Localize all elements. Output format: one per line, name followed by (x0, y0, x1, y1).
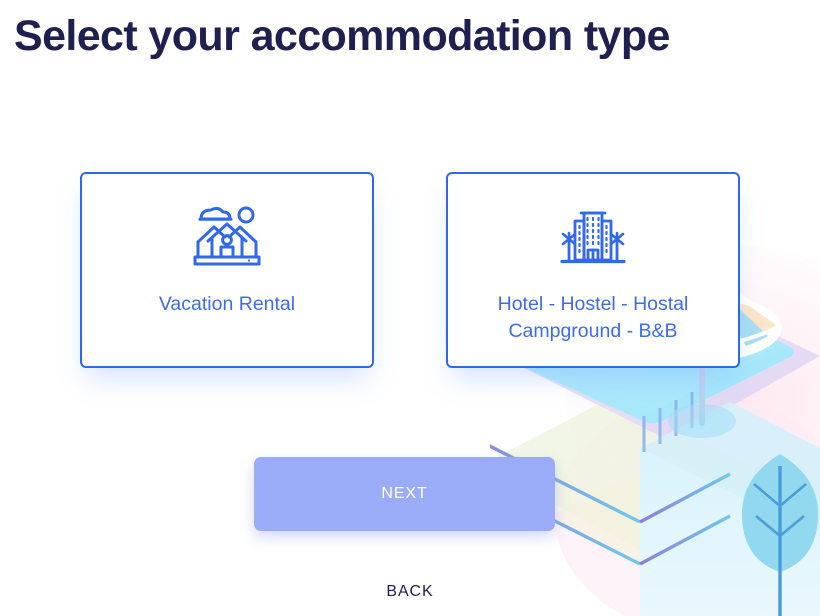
villa-house-icon (188, 201, 266, 271)
hotel-building-icon (554, 201, 632, 271)
back-button[interactable]: BACK (0, 583, 820, 601)
page-title: Select your accommodation type (14, 10, 670, 62)
option-card-label: Vacation Rental (159, 291, 295, 318)
option-card-label: Hotel - Hostel - Hostal Campground - B&B (498, 291, 689, 345)
next-button[interactable]: NEXT (254, 457, 555, 531)
accommodation-type-options: Vacation Rental (0, 172, 820, 368)
option-card-vacation-rental[interactable]: Vacation Rental (80, 172, 374, 368)
accommodation-type-step: Select your accommodation type (0, 0, 820, 616)
option-card-hotel-hostel[interactable]: Hotel - Hostel - Hostal Campground - B&B (446, 172, 740, 368)
